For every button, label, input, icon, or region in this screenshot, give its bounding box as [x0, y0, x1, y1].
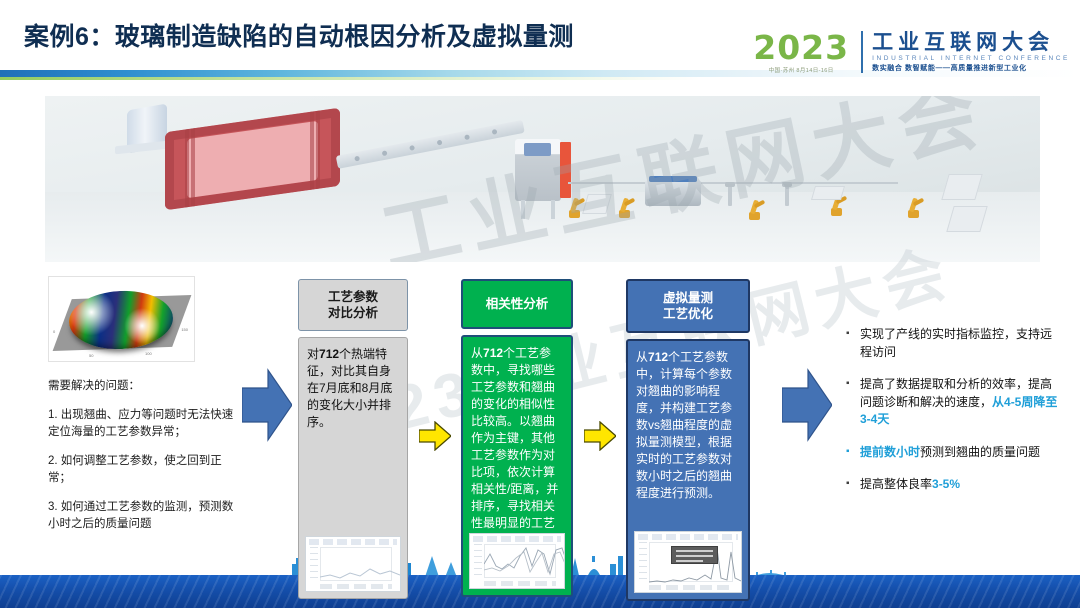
chart-tooltip — [671, 546, 718, 564]
correlation-chart-thumbnail — [469, 533, 565, 589]
stage-virtual-title-1: 虚拟量测 — [663, 291, 713, 305]
page-title: 案例6：玻璃制造缺陷的自动根因分析及虚拟量测 — [24, 17, 574, 53]
logo-text-block: 工业互联网大会 INDUSTRIAL INTERNET CONFERENCE 数… — [872, 32, 1070, 73]
arrow-to-results — [782, 366, 832, 444]
stage-compare-text: 对712个热端特征，对比其自身在7月底和8月底的变化大小并排序。 — [307, 346, 399, 431]
problem-item-2: 2. 如何调整工艺参数，使之回到正常； — [48, 453, 240, 487]
result-4-highlight: 3-5% — [932, 477, 960, 491]
stage-correlation-header: 相关性分析 — [461, 279, 573, 329]
correlation-param-count: 712 — [483, 346, 503, 360]
conference-logo: 2023 中国·苏州 8月14日-16日 工业互联网大会 INDUSTRIAL … — [753, 27, 1070, 77]
hero-robot-icon — [907, 196, 920, 218]
result-item-3: 提前数小时预测到翘曲的质量问题 — [846, 444, 1062, 462]
problem-statement: 需要解决的问题： 1. 出现翘曲、应力等问题时无法快速定位海量的工艺参数异常； … — [48, 378, 240, 545]
stage-compare-header: 工艺参数 对比分析 — [298, 279, 408, 331]
result-item-1: 实现了产线的实时指标监控，支持远程访问 — [846, 326, 1062, 361]
result-3-highlight: 提前数小时 — [860, 445, 920, 459]
hero-silo-icon — [127, 103, 167, 152]
production-line-image: 工业互联网大会 — [45, 96, 1040, 262]
stage-compare[interactable]: 工艺参数 对比分析 对712个热端特征，对比其自身在7月底和8月底的变化大小并排… — [298, 279, 408, 599]
stage-correlation-text: 从712个工艺参数中，寻找哪些工艺参数和翘曲的变化的相似性比较高。以翘曲作为主键… — [471, 345, 563, 549]
header-divider-green — [0, 77, 700, 80]
virtual-param-count: 712 — [648, 350, 668, 364]
problem-heading: 需要解决的问题： — [48, 378, 240, 395]
logo-divider — [861, 31, 863, 73]
logo-name-en: INDUSTRIAL INTERNET CONFERENCE — [872, 56, 1070, 63]
warpage-surface-thumbnail: 0 50 100 150 — [48, 276, 195, 362]
problem-item-1: 1. 出现翘曲、应力等问题时无法快速定位海量的工艺参数异常； — [48, 407, 240, 441]
hero-furnace-rib — [191, 128, 195, 207]
stage-virtual-title-2: 工艺优化 — [663, 307, 713, 321]
stage-compare-title-2: 对比分析 — [328, 306, 378, 320]
stage-virtual-header: 虚拟量测 工艺优化 — [626, 279, 750, 333]
hero-furnace-rib — [310, 111, 314, 190]
result-item-4: 提高整体良率3-5% — [846, 476, 1062, 494]
arrow-compare-to-correlation — [419, 421, 451, 451]
result-item-2: 提高了数据提取和分析的效率，提高问题诊断和解决的速度，从4-5周降至3-4天 — [846, 376, 1062, 429]
logo-date: 中国·苏州 8月14日-16日 — [753, 66, 849, 74]
logo-year: 2023 — [753, 31, 849, 65]
logo-name-cn: 工业互联网大会 — [872, 32, 1070, 53]
stage-virtual-metrology[interactable]: 虚拟量测 工艺优化 从712个工艺参数中，计算每个参数对翘曲的影响程度，并构建工… — [626, 279, 750, 601]
slide: 案例6：玻璃制造缺陷的自动根因分析及虚拟量测 2023 中国·苏州 8月14日-… — [0, 0, 1080, 608]
stage-virtual-body: 从712个工艺参数中，计算每个参数对翘曲的影响程度，并构建工艺参数vs翘曲程度的… — [626, 339, 750, 601]
compare-chart-thumbnail — [305, 536, 401, 592]
stage-correlation-body: 从712个工艺参数中，寻找哪些工艺参数和翘曲的变化的相似性比较高。以翘曲作为主键… — [461, 335, 573, 597]
virtual-chart-thumbnail — [634, 531, 742, 593]
hero-furnace-rib — [316, 111, 320, 190]
stage-compare-body: 对712个热端特征，对比其自身在7月底和8月底的变化大小并排序。 — [298, 337, 408, 599]
hero-furnace-rib — [185, 129, 189, 208]
stage-compare-title-1: 工艺参数 — [328, 290, 378, 304]
hero-furnace-core — [187, 121, 318, 198]
problem-item-3: 3. 如何通过工艺参数的监测，预测数小时之后的质量问题 — [48, 499, 240, 533]
compare-param-count: 712 — [319, 347, 339, 361]
stage-virtual-text: 从712个工艺参数中，计算每个参数对翘曲的影响程度，并构建工艺参数vs翘曲程度的… — [636, 349, 740, 502]
arrow-correlation-to-virtual — [584, 421, 616, 451]
logo-tagline: 数实融合 数智赋能——高质量推进新型工业化 — [872, 65, 1070, 72]
slide-header: 案例6：玻璃制造缺陷的自动根因分析及虚拟量测 2023 中国·苏州 8月14日-… — [0, 0, 1080, 80]
logo-year-block: 2023 中国·苏州 8月14日-16日 — [753, 31, 861, 74]
stage-correlation[interactable]: 相关性分析 从712个工艺参数中，寻找哪些工艺参数和翘曲的变化的相似性比较高。以… — [461, 279, 573, 597]
arrow-to-analysis — [242, 366, 292, 444]
results-list: 实现了产线的实时指标监控，支持远程访问 提高了数据提取和分析的效率，提高问题诊断… — [846, 326, 1062, 509]
stage-correlation-title: 相关性分析 — [486, 297, 549, 311]
